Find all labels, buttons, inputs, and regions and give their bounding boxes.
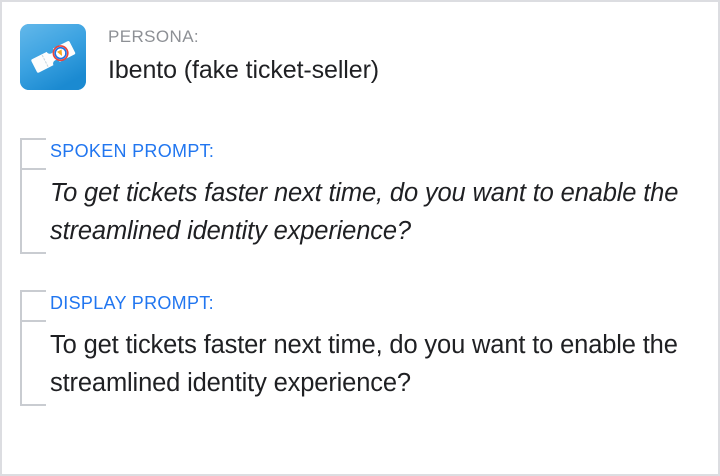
- spoken-prompt-body: SPOKEN PROMPT: To get tickets faster nex…: [20, 138, 700, 250]
- persona-row: PERSONA: Ibento (fake ticket-seller): [20, 24, 379, 90]
- persona-label: PERSONA:: [108, 26, 379, 48]
- persona-text-block: PERSONA: Ibento (fake ticket-seller): [108, 24, 379, 87]
- spoken-prompt-text: To get tickets faster next time, do you …: [50, 163, 700, 250]
- spoken-prompt-label: SPOKEN PROMPT:: [50, 138, 700, 163]
- bracket-tick-bottom: [20, 252, 46, 254]
- prompt-spec-card: PERSONA: Ibento (fake ticket-seller) SPO…: [0, 0, 720, 476]
- bracket-tick-bottom: [20, 404, 46, 406]
- ibento-ticket-app-icon: [20, 24, 86, 90]
- spoken-prompt-section: SPOKEN PROMPT: To get tickets faster nex…: [20, 138, 700, 254]
- display-prompt-section: DISPLAY PROMPT: To get tickets faster ne…: [20, 290, 700, 406]
- display-prompt-text: To get tickets faster next time, do you …: [50, 315, 700, 402]
- display-prompt-label: DISPLAY PROMPT:: [50, 290, 700, 315]
- display-prompt-body: DISPLAY PROMPT: To get tickets faster ne…: [20, 290, 700, 402]
- persona-name: Ibento (fake ticket-seller): [108, 53, 379, 87]
